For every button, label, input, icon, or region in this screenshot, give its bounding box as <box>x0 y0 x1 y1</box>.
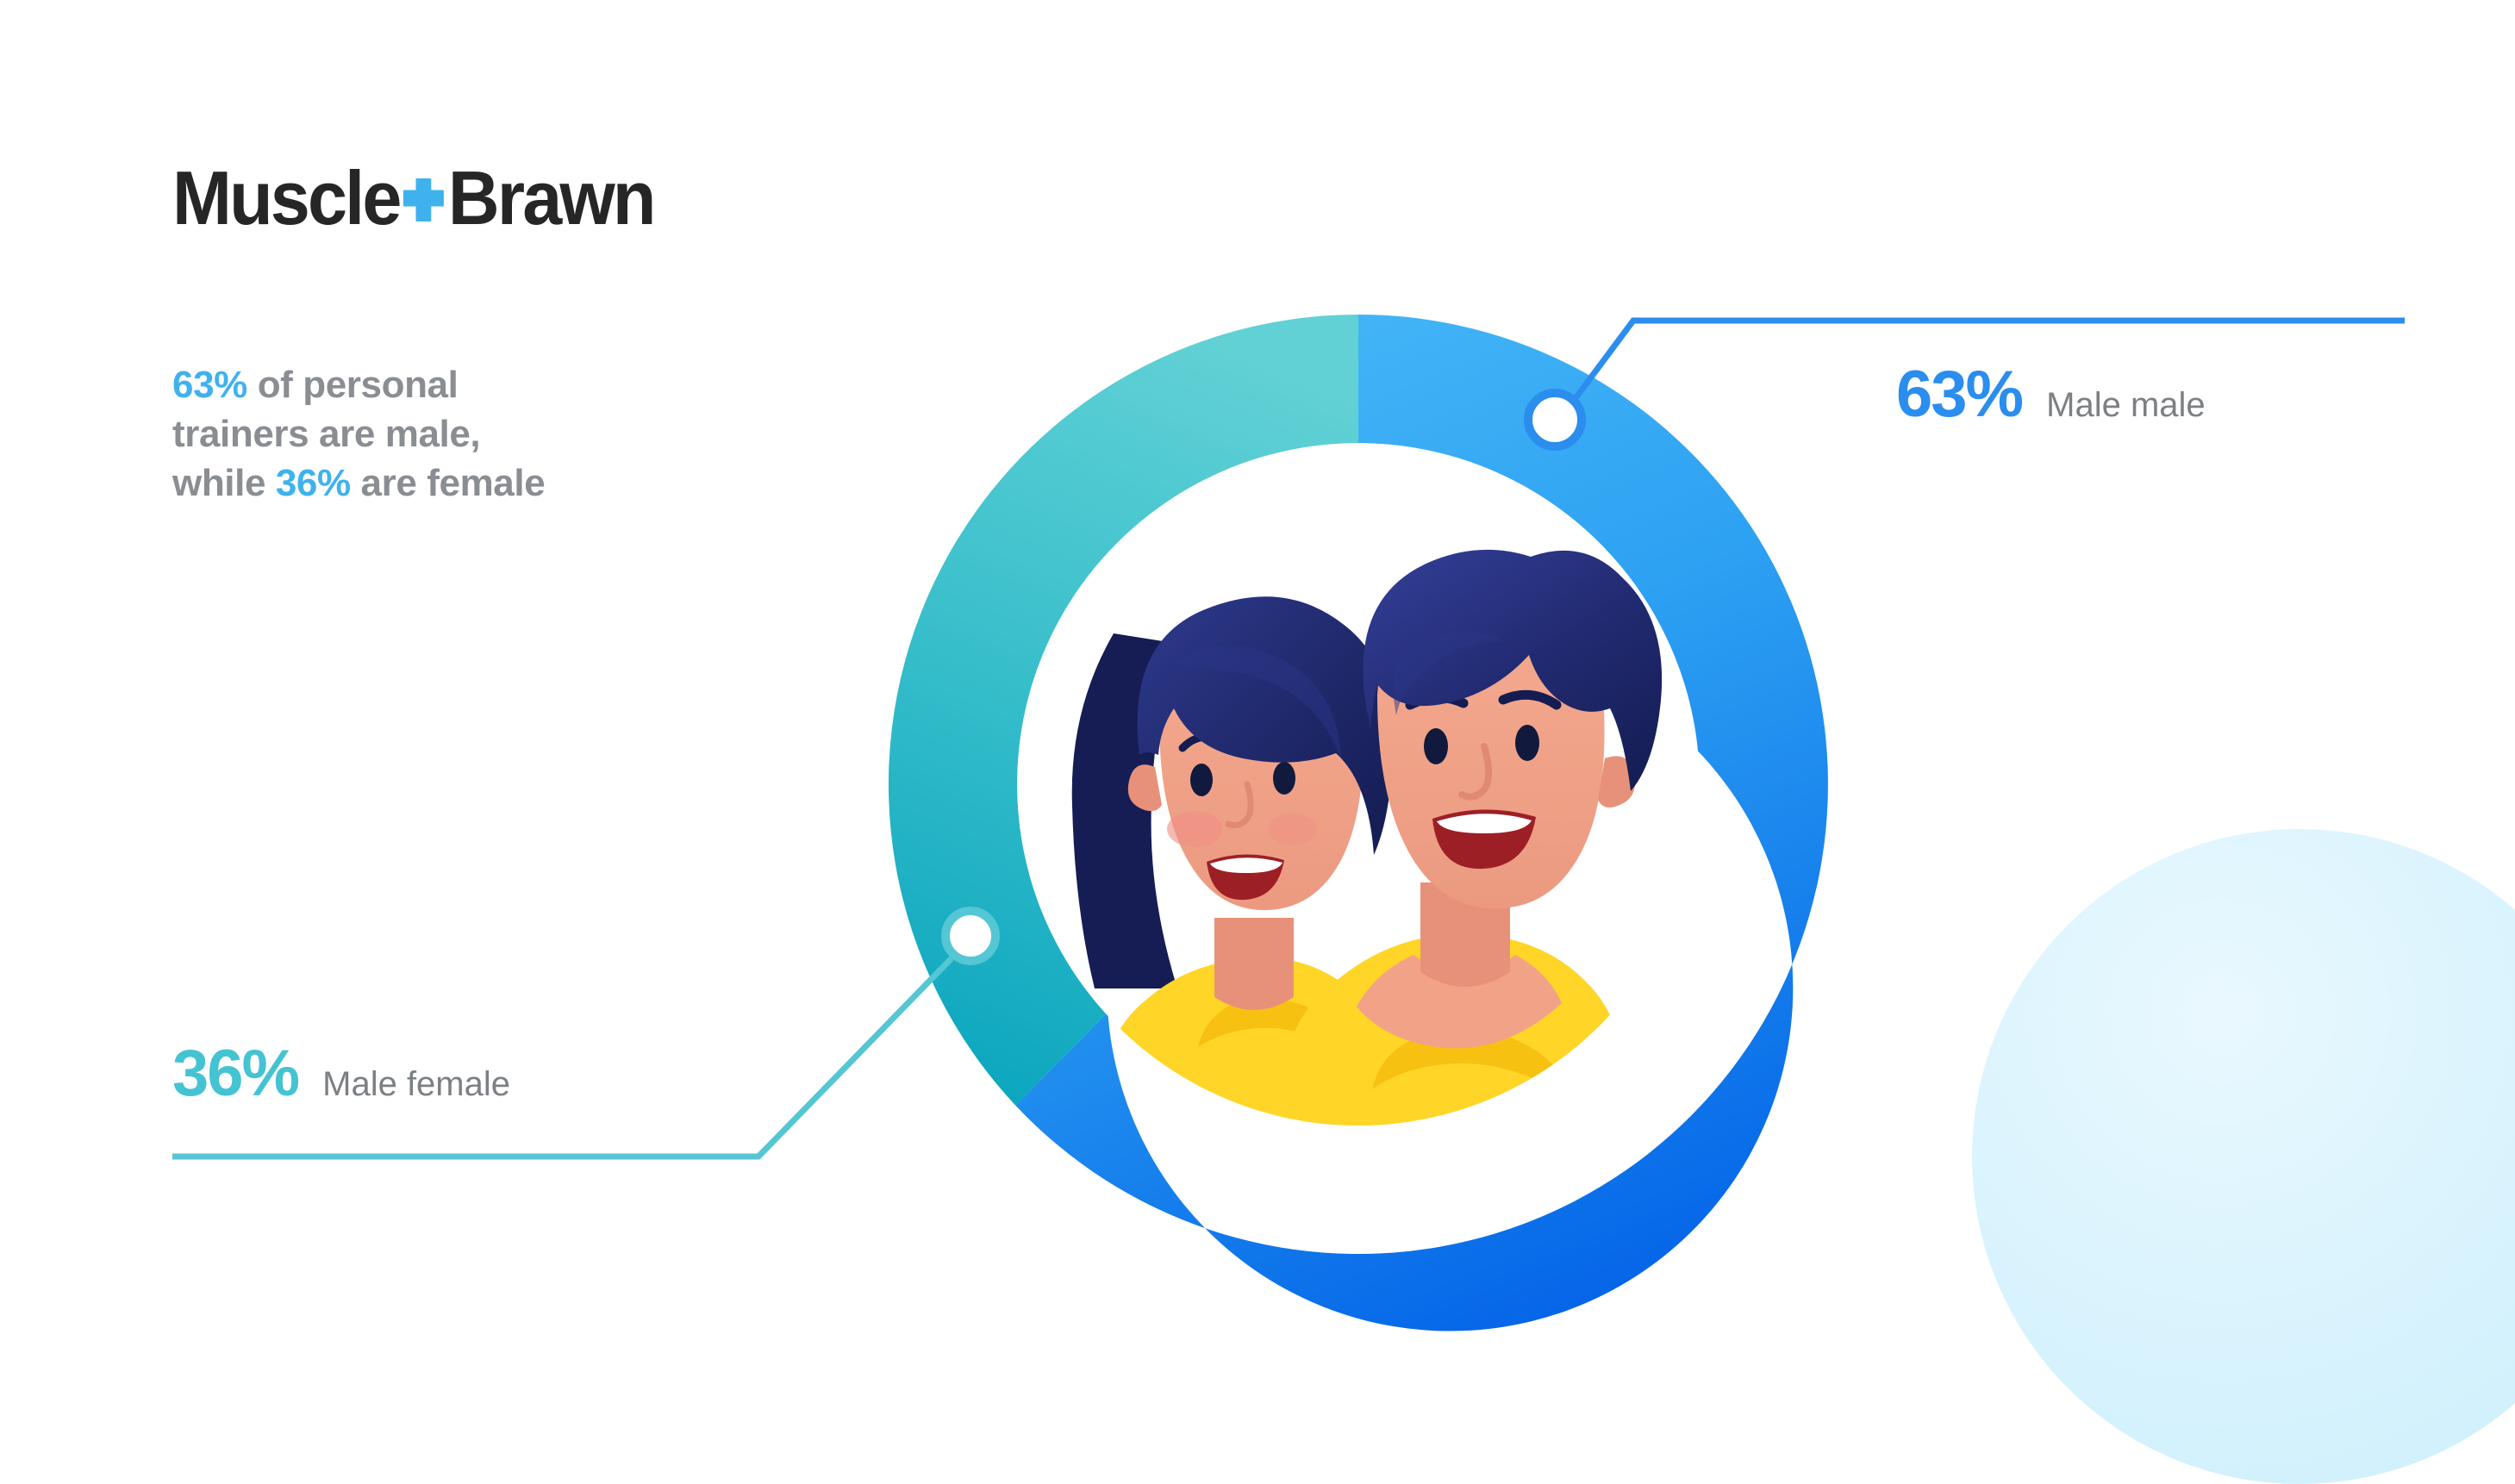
donut-chart <box>0 0 2515 1329</box>
infographic-canvas: Muscle Brawn 63% of personal trainers ar… <box>0 0 2515 1329</box>
callout-female: 36% Male female <box>172 1041 510 1107</box>
callout-female-percent: 36% <box>172 1041 298 1107</box>
callout-male-percent: 63% <box>1896 362 2022 427</box>
callout-male-label: Male male <box>2046 388 2206 422</box>
callout-female-label: Male female <box>322 1067 510 1101</box>
segment-marker-female[interactable] <box>945 911 995 961</box>
callout-male: 63% Male male <box>1896 362 2206 427</box>
segment-marker-male[interactable] <box>1528 393 1582 446</box>
couple-trainers-illustration <box>1017 443 1700 1125</box>
